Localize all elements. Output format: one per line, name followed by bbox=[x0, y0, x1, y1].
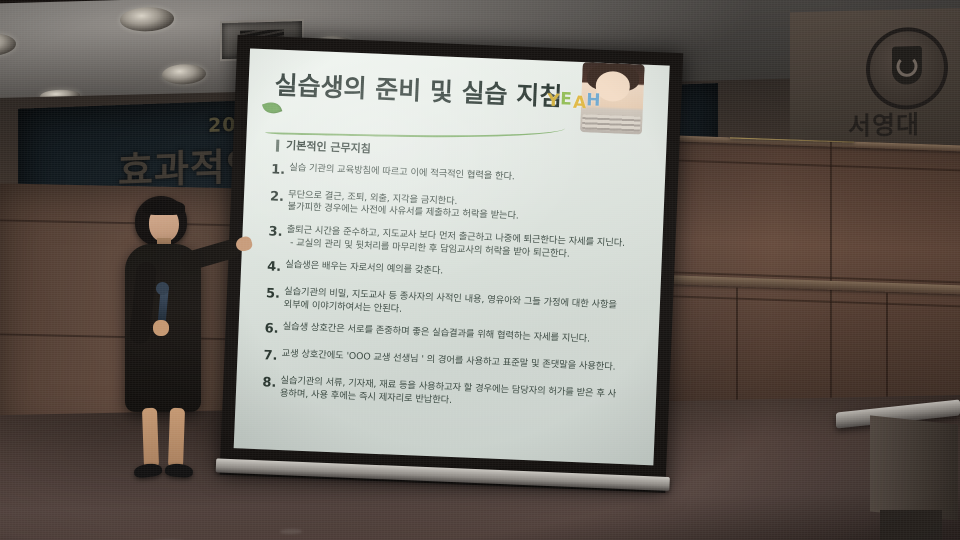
list-item: 4. 실습생은 배우는 자로서의 예의를 갖춘다. bbox=[267, 258, 647, 291]
list-item-line: 교생 상호간에도 'OOO 교생 선생님 ' 의 경어를 사용하고 표준말 및 … bbox=[281, 348, 643, 375]
crest-shield-icon bbox=[892, 46, 922, 85]
clipart-letter: E bbox=[560, 89, 572, 109]
slide-subheading: 기본적인 근무지침 bbox=[276, 140, 371, 156]
list-item: 3. 출퇴근 시간을 준수하고, 지도교사 보다 먼저 출근하고 나중에 퇴근한… bbox=[268, 223, 649, 264]
slide-title: 실습생의 준비 및 실습 지침 bbox=[274, 66, 563, 114]
list-item-number: 2. bbox=[270, 188, 289, 206]
presenter-mic-hand bbox=[153, 320, 169, 336]
list-item: 6. 실습생 상호간은 서로를 존중하며 좋은 실습결과를 위해 협력하는 자세… bbox=[264, 320, 644, 353]
presentation-slide: 실습생의 준비 및 실습 지침 Y E A H 기본적인 근무지침 bbox=[234, 48, 670, 465]
presenter-leg bbox=[142, 408, 159, 468]
presenter-shoe bbox=[164, 463, 193, 478]
list-item-number: 1. bbox=[271, 161, 290, 179]
list-item-line: 실습생 상호간은 서로를 존중하며 좋은 실습결과를 위해 협력하는 자세를 지… bbox=[282, 321, 644, 348]
list-item-body: 교생 상호간에도 'OOO 교생 선생님 ' 의 경어를 사용하고 표준말 및 … bbox=[281, 348, 643, 375]
decorative-letters: Y E A H bbox=[547, 89, 604, 117]
list-item-number: 4. bbox=[267, 258, 286, 276]
banner-top-number: 20 bbox=[208, 114, 236, 137]
books-icon bbox=[583, 114, 641, 132]
list-item: 7. 교생 상호간에도 'OOO 교생 선생님 ' 의 경어를 사용하고 표준말… bbox=[263, 347, 643, 380]
presenter-leg bbox=[168, 408, 185, 468]
wood-seam bbox=[830, 141, 832, 441]
list-item: 8. 실습기관의 서류, 기자재, 재료 등을 사용하고자 할 경우에는 담당자… bbox=[262, 374, 643, 415]
microphone-head bbox=[156, 282, 169, 295]
projection-screen: 실습생의 준비 및 실습 지침 Y E A H 기본적인 근무지침 bbox=[219, 35, 689, 513]
lectern bbox=[836, 398, 960, 540]
guideline-list: 1. 실습 기관의 교육방침에 따르고 이에 적극적인 협력을 한다. 2. 무… bbox=[261, 161, 651, 424]
list-item-number: 7. bbox=[263, 347, 282, 365]
university-signage: 서영대 bbox=[790, 8, 960, 153]
lecture-hall-photo: 20 효과적인 일시 : 2016년 9 실제 서영대 bbox=[0, 0, 960, 540]
list-item-body: 실습기관의 서류, 기자재, 재료 등을 사용하고자 할 경우에는 담당자의 허… bbox=[280, 375, 643, 415]
list-item-body: 실습생은 배우는 자로서의 예의를 갖춘다. bbox=[285, 259, 647, 286]
list-item: 2. 무단으로 결근, 조퇴, 외출, 지각을 금지한다. 불가피한 경우에는 … bbox=[269, 188, 650, 229]
university-crest-icon bbox=[866, 26, 948, 110]
list-item-number: 8. bbox=[262, 374, 281, 392]
clipart-letter: H bbox=[586, 90, 601, 111]
presenter-right-arm bbox=[178, 237, 243, 272]
list-item-body: 실습 기관의 교육방침에 따르고 이에 적극적인 협력을 한다. bbox=[289, 162, 651, 189]
slide-clipart: Y E A H bbox=[542, 61, 649, 141]
clipart-letter: A bbox=[573, 93, 587, 114]
list-item: 5. 실습기관의 비밀, 지도교사 등 종사자의 사적인 내용, 영유아와 그들… bbox=[265, 285, 646, 326]
university-name: 서영대 bbox=[848, 105, 920, 143]
list-item-body: 무단으로 결근, 조퇴, 외출, 지각을 금지한다. 불가피한 경우에는 사전에… bbox=[287, 189, 650, 229]
list-item: 1. 실습 기관의 교육방침에 따르고 이에 적극적인 협력을 한다. bbox=[271, 161, 651, 194]
wood-seam bbox=[636, 294, 960, 308]
presenter-shoe bbox=[133, 462, 162, 478]
clipart-letter: Y bbox=[547, 91, 560, 111]
presenter-bangs bbox=[143, 200, 185, 215]
list-item-body: 출퇴근 시간을 준수하고, 지도교사 보다 먼저 출근하고 나중에 퇴근한다는 … bbox=[286, 224, 649, 264]
list-item-body: 실습생 상호간은 서로를 존중하며 좋은 실습결과를 위해 협력하는 자세를 지… bbox=[282, 321, 644, 348]
title-underline-decoration bbox=[265, 114, 565, 140]
presenter bbox=[103, 196, 253, 496]
list-item-line: 실습생은 배우는 자로서의 예의를 갖춘다. bbox=[285, 259, 647, 286]
list-item-number: 6. bbox=[264, 320, 283, 338]
lectern-body bbox=[870, 415, 958, 520]
list-item-number: 5. bbox=[266, 285, 285, 303]
list-item-body: 실습기관의 비밀, 지도교사 등 종사자의 사적인 내용, 영유아와 그들 가정… bbox=[283, 286, 646, 326]
lectern-base bbox=[880, 510, 942, 540]
list-item-line: 실습 기관의 교육방침에 따르고 이에 적극적인 협력을 한다. bbox=[289, 162, 651, 189]
list-item-number: 3. bbox=[268, 223, 287, 241]
